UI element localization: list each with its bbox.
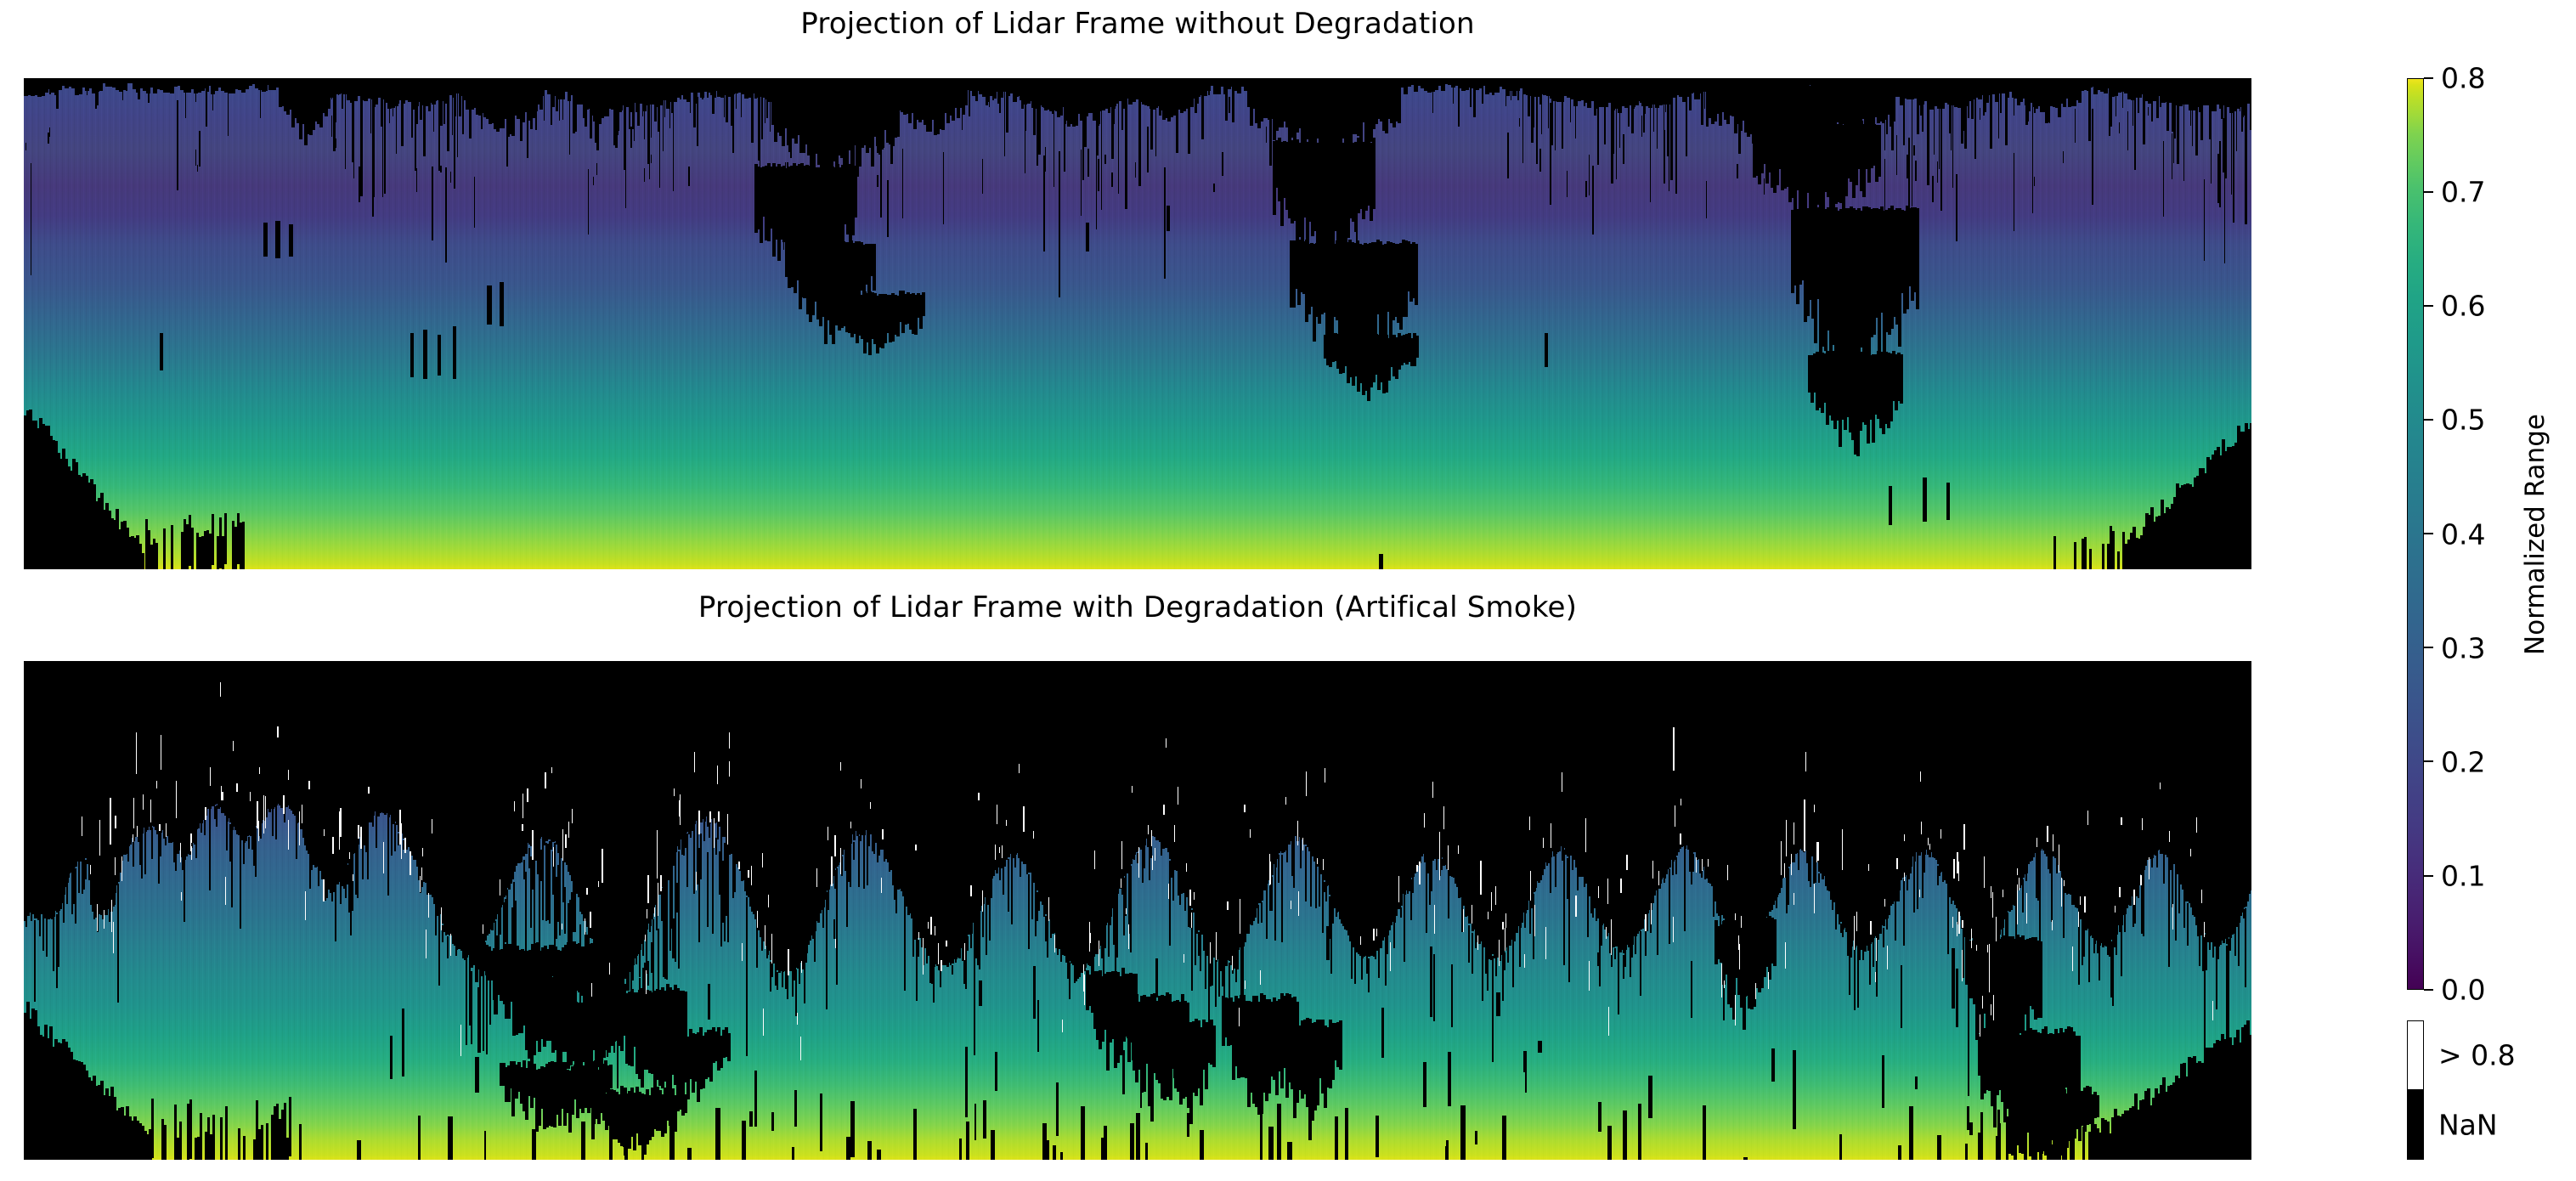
nan-corner-right [2102,544,2104,569]
nan-smoke-fringe [1069,963,1071,999]
nan-streak [1096,152,1097,230]
nan-corner-right [2250,423,2251,569]
nan-smoke-fringe [357,845,359,898]
nan-smoke-fringe [2163,852,2165,883]
nan-streak [649,155,650,179]
nan-smoke-fringe [895,885,897,913]
nan-smoke-fringe [1468,925,1470,963]
nan-smoke-fringe [756,924,758,968]
nan-mask-top [24,78,2251,569]
nan-smoke-fringe [160,833,161,856]
nan-smoke-fringe [530,856,532,927]
nan-smoke-fringe [133,841,134,867]
nan-smoke-fringe [2156,850,2158,867]
nan-smoke-fringe [2138,885,2139,898]
nan-smoke-fringe [1563,850,1565,966]
nan-corner-right [2089,549,2092,569]
nan-smoke-fringe [1492,956,1494,1062]
nan-smoke-fringe [1008,859,1009,912]
nan-streak [1706,181,1707,218]
nan-streak [353,156,354,178]
nan-streak [1507,133,1509,179]
nan-smoke-fringe [387,817,389,895]
nan-corner-left [212,514,214,565]
nan-streak [372,171,374,217]
nan-smoke-fringe [1482,945,1483,1001]
nan-smoke-fringe [1393,923,1395,948]
nan-streak [457,127,458,157]
nan-streak [1585,181,1587,196]
nan-smoke-fringe [1351,944,1353,970]
nan-smoke-fringe [1215,962,1217,1007]
nan-smoke-fringe [549,847,551,924]
nan-streak [1081,150,1082,216]
nan-smoke-fringe [1555,856,1556,887]
nan-streak [1147,127,1149,172]
nan-smoke-fringe [1300,837,1302,868]
lidar-projection-without-degradation [24,78,2251,569]
nan-streak [593,177,594,185]
nan-smoke-fringe [1798,850,1799,870]
nan-blob [854,166,857,218]
nan-streak [2075,109,2076,144]
nan-streak [2092,109,2093,205]
nan-smoke-fringe [2143,870,2144,936]
nan-smoke-fringe [1647,915,1648,932]
nan-smoke-fringe [1883,928,1884,947]
nan-corner-left [191,528,194,569]
nan-smoke-fringe [2022,879,2024,913]
panel-title-bottom: Projection of Lidar Frame with Degradati… [24,590,2251,624]
nan-smoke-fringe [1184,895,1186,910]
nan-cluster [684,992,687,1038]
nan-streak [1222,152,1223,176]
nan-streak [1937,161,1938,182]
nan-smoke-fringe [1669,869,1670,944]
nan-smoke-fringe [1519,930,1521,957]
nan-smoke-fringe [248,837,250,849]
nan-streak [2063,151,2064,163]
nan-blob [1398,84,1401,123]
nan-smoke-fringe [1587,890,1589,938]
nan-smoke-fringe [447,936,449,958]
nan-streak [1025,105,1025,174]
nan-smoke-fringe [1400,907,1402,917]
nan-smoke-fringe [1572,859,1573,870]
nan-streak [1087,149,1089,177]
nan-smoke-fringe [209,811,211,890]
nan-speck [423,330,427,379]
nan-smoke-fringe [979,913,980,969]
nan-streak [1104,155,1106,164]
nan-smoke-fringe [542,849,544,921]
nan-smoke-fringe [2025,873,2027,881]
nan-blob [922,292,925,316]
nan-smoke-fringe [1472,933,1473,974]
nan-smoke-fringe [1261,902,1263,923]
nan-streak [1519,118,1520,127]
nan-smoke-fringe [1266,885,1268,939]
nan-smoke-fringe [46,917,48,957]
nan-smoke-fringe [574,890,576,932]
nan-streak [902,149,903,218]
nan-smoke-fringe [2056,865,2058,873]
nan-smoke-fringe [727,851,729,942]
figure-canvas: Projection of Lidar Frame without Degrad… [0,0,2576,1181]
nan-streak [2014,153,2014,231]
nan-smoke-fringe [678,856,680,969]
nan-corner-left [224,513,227,564]
nan-smoke-fringe [471,971,472,1043]
nan-streak [2226,155,2227,175]
nan-smoke-fringe [1618,950,1619,1015]
nan-smoke-fringe [858,836,860,887]
nan-streak [2119,122,2120,133]
nan-smoke-fringe [658,929,659,992]
nan-streak [1764,178,1765,195]
nan-smoke-fringe [144,832,146,874]
nan-streak [2034,177,2035,186]
nan-smoke-fringe [1514,933,1516,941]
nan-smoke-fringe [1939,873,1940,876]
nan-streak [1266,127,1267,143]
nan-smoke-fringe [1624,950,1626,967]
nan-streak [2204,179,2205,261]
nan-smoke-fringe [1947,891,1949,954]
nan-streak [384,138,386,194]
nan-corner-right [2122,532,2125,569]
nan-streak [2127,111,2128,150]
nan-blob [1195,86,1199,104]
nan-cluster [626,942,630,991]
nan-smoke-fringe [226,822,228,850]
nan-smoke-fringe [1601,925,1602,945]
nan-streak [1737,164,1738,178]
nan-smoke-fringe [243,843,245,864]
nan-smoke-fringe [782,972,783,987]
nan-smoke-fringe [1133,855,1135,861]
nan-smoke-fringe [68,873,70,878]
nan-smoke-fringe [707,852,709,927]
nan-streak [2172,133,2172,179]
nan-speck [1889,486,1892,525]
nan-smoke-fringe [240,842,241,929]
nan-smoke-fringe [1859,950,1861,959]
nan-blob [2078,87,2082,103]
nan-streak [1592,166,1594,235]
nan-blob [1916,208,1919,309]
nan-smoke-fringe [868,834,870,843]
nan-smoke-fringe [700,833,702,880]
nan-streak [1623,134,1624,163]
nan-smoke-fringe [2088,936,2090,982]
nan-smoke-fringe [1104,925,1106,948]
nan-smoke-fringe [639,950,641,977]
nan-blob [1372,138,1376,209]
nan-smoke-fringe [1293,835,1295,887]
nan-streak [331,116,332,137]
nan-smoke-fringe [636,956,637,964]
nan-streak [177,100,178,191]
nan-smoke-fringe [272,809,274,836]
nan-smoke-fringe [1913,862,1915,913]
nan-blob [1900,354,1903,404]
nan-streak [1980,108,1980,120]
nan-smoke-fringe [195,829,197,858]
nan-smoke-fringe [777,972,778,990]
nan-blob [539,86,543,110]
nan-streak [1896,135,1897,175]
nan-streak [630,127,632,147]
nan-smoke-fringe [1257,905,1259,924]
nan-smoke-fringe [1818,873,1820,882]
nan-smoke-fringe [466,959,467,1045]
nan-smoke-fringe [391,820,393,856]
nan-smoke-fringe [955,959,957,963]
nan-speck [1545,333,1548,367]
nan-smoke-fringe [1850,946,1852,958]
nan-smoke-fringe [559,878,561,935]
nan-cluster [2039,941,2042,1018]
nan-speck [1379,554,1383,569]
nan-smoke-fringe [500,911,501,935]
nan-smoke-fringe [1776,897,1777,909]
nan-streak [1536,144,1538,164]
nan-streak [1164,167,1166,279]
nan-streak [49,127,50,138]
nan-streak [197,165,198,172]
nan-smoke-fringe [231,832,233,856]
nan-smoke-fringe [1675,857,1677,874]
nan-smoke-fringe [1325,886,1327,901]
nan-smoke-fringe [1200,928,1201,971]
nan-smoke-fringe [1212,957,1213,986]
nan-corner-right [2084,537,2087,569]
nan-streak [432,167,433,240]
nan-streak [445,167,447,263]
nan-speck [487,285,492,325]
nan-cluster [2096,1095,2099,1117]
nan-smoke-fringe [632,965,634,980]
nan-mask-bottom [24,661,2251,1160]
nan-smoke-fringe [39,913,41,936]
nan-smoke-fringe [1378,946,1380,978]
nan-streak [877,175,878,186]
nan-smoke-fringe [534,857,535,954]
nan-speck [1086,223,1089,251]
nan-smoke-fringe [712,839,714,935]
nan-smoke-fringe [649,926,651,932]
nan-smoke-fringe [63,895,65,923]
nan-smoke-fringe [2229,938,2231,951]
nan-smoke-fringe [1701,870,1703,879]
nan-smoke-fringe [1286,845,1288,862]
nan-streak [1111,172,1113,187]
nan-streak [2173,104,2174,163]
nan-smoke-fringe [1387,937,1388,954]
nan-streak [1152,114,1153,141]
nan-streak [1664,130,1665,184]
nan-smoke-fringe [787,971,788,998]
nan-streak [2231,119,2232,194]
nan-streak [1229,97,1230,113]
nan-smoke-fringe [746,897,748,1055]
nan-smoke-fringe [1028,874,1030,949]
nan-smoke-fringe [201,823,202,833]
nan-smoke-fringe [1223,963,1225,996]
nan-smoke-fringe [2116,935,2117,955]
nan-smoke-fringe [1319,871,1320,906]
nan-streak [2219,141,2221,206]
nan-band [2250,78,2251,110]
nan-smoke-fringe [771,963,773,978]
nan-smoke-fringe [376,814,377,848]
nan-streak [617,118,619,136]
nan-streak [474,177,475,227]
nan-smoke-fringe [1507,944,1509,963]
nan-smoke-fringe [1031,877,1033,919]
lidar-projection-with-degradation [24,661,2251,1160]
nan-smoke-fringe [58,911,59,967]
nan-smoke-fringe [850,844,851,887]
nan-smoke-fringe [255,828,257,877]
nan-corner-left [171,525,173,569]
nan-smoke-fringe [335,886,336,942]
nan-smoke-fringe [1144,845,1145,869]
nan-smoke-fringe [703,822,705,840]
nan-streak [1045,147,1046,172]
nan-corner-left [163,528,166,569]
nan-smoke-fringe [1495,957,1497,975]
nan-smoke-fringe [1011,852,1013,924]
nan-cluster [684,1094,687,1114]
nan-smoke-fringe [1842,930,1844,936]
nan-smoke-fringe [2175,872,2177,941]
nan-smoke-fringe [734,861,736,893]
nan-corner-left [155,543,158,569]
nan-smoke-fringe [2168,864,2170,968]
nan-smoke-fringe [394,823,396,850]
nan-speck [263,223,268,257]
nan-blob [873,244,876,291]
nan-streak [688,167,690,185]
nan-streak [943,152,944,223]
nan-blob [1878,125,1881,176]
nan-smoke-fringe [127,846,129,862]
nan-smoke-fringe [693,825,695,850]
nan-speck [500,282,504,326]
nan-smoke-fringe [1354,949,1356,985]
nan-streak [596,163,597,174]
nan-streak [195,150,196,166]
nan-smoke-fringe [1640,931,1641,996]
nan-corner-right [2112,531,2115,569]
nan-blob [1892,85,1895,121]
nan-smoke-fringe [296,825,297,859]
nan-smoke-fringe [1672,862,1674,875]
nan-smoke-fringe [841,856,843,876]
nan-smoke-fringe [1060,955,1062,962]
nan-smoke-fringe [814,931,816,962]
nan-blob [1415,244,1418,305]
nan-smoke-fringe [1832,901,1833,909]
nan-smoke-fringe [151,828,153,859]
nan-blob [327,82,330,109]
nan-smoke-fringe [1315,862,1317,907]
nan-streak [1956,174,1957,241]
nan-smoke-fringe [2234,924,2236,956]
nan-smoke-fringe [1592,907,1594,918]
nan-blob [964,87,968,105]
nan-smoke-fringe [1635,936,1636,953]
nan-speck [1923,477,1927,522]
nan-smoke-fringe [2217,946,2219,959]
nan-speck [410,333,414,377]
nan-smoke-fringe [1274,869,1276,940]
nan-speck [453,326,456,379]
nan-streak [1522,113,1523,157]
nan-cluster [609,1065,613,1088]
nan-smoke-fringe [1278,855,1280,883]
nan-smoke-fringe [1336,913,1337,917]
nan-smoke-fringe [1910,867,1912,874]
nan-cluster [1339,1020,1342,1070]
nan-smoke-fringe [805,953,807,963]
nan-smoke-fringe [2172,865,2173,886]
nan-smoke-fringe [75,868,76,924]
nan-smoke-fringe [1412,877,1414,893]
nan-smoke-fringe [2245,908,2246,986]
nan-streak [25,143,26,150]
nan-smoke-fringe [1857,952,1859,1007]
nan-streak [1059,151,1060,298]
nan-smoke-fringe [1631,945,1633,957]
nan-smoke-fringe [1361,958,1363,980]
nan-streak [697,97,698,146]
nan-smoke-fringe [78,862,80,893]
nan-smoke-fringe [2178,881,2180,913]
nan-smoke-fringe [1448,870,1449,918]
nan-corner-left [242,522,245,569]
nan-smoke-fringe [42,913,44,951]
nan-smoke-fringe [1614,948,1616,959]
nan-smoke-fringe [2039,852,2041,953]
nan-smoke-fringe [2228,939,2229,1041]
nan-streak [1915,161,1917,182]
nan-smoke-fringe [1108,924,1110,957]
nan-smoke-fringe [141,835,143,879]
nan-streak [2148,107,2149,116]
nan-smoke-fringe [1310,848,1312,907]
nan-streak [1539,149,1541,172]
nan-streak [1886,120,1888,133]
nan-smoke-fringe [564,887,566,934]
nan-smoke-fringe [2093,944,2095,953]
nan-smoke-fringe [1810,851,1811,886]
nan-smoke-fringe [53,917,54,971]
nan-blob [1415,336,1419,358]
nan-corner-left [141,553,144,569]
nan-smoke-fringe [1815,861,1816,874]
nan-smoke-fringe [525,872,527,962]
nan-smoke-fringe [1524,913,1526,928]
nan-smoke-fringe [822,907,824,927]
nan-speck [438,335,441,376]
nan-smoke-fringe [1550,857,1551,893]
nan-streak [416,168,417,192]
nan-streak [199,131,201,167]
nan-streak [1669,121,1669,191]
